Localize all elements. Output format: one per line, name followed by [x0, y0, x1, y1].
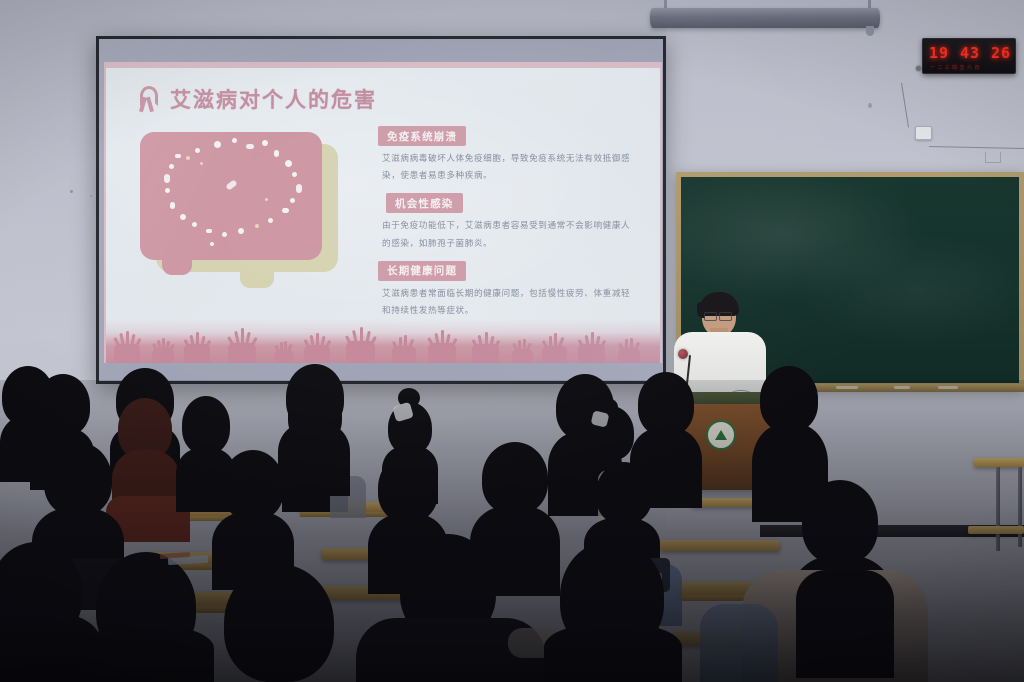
section-text: 艾滋病病毒破坏人体免疫细胞，导致免疫系统无法有效抵御感染，使患者易患多种疾病。: [382, 151, 632, 185]
hand-silhouette: [428, 330, 456, 363]
ceiling-screen-roller: [650, 8, 880, 28]
presenter-glasses-left: [704, 312, 717, 321]
slide-section: 长期健康问题 艾滋病患者常面临长期的健康问题，包括慢性疲劳、体重减轻和持续性发热…: [378, 261, 632, 320]
student-head: [222, 450, 284, 520]
student-head: [378, 454, 438, 522]
student-head: [286, 364, 344, 430]
bubble-front: [140, 132, 322, 260]
empty-desk: [968, 526, 1024, 534]
clock-hours: 19: [929, 44, 949, 62]
slide-section: 免疫系统崩溃 艾滋病病毒破坏人体免疫细胞，导致免疫系统无法有效抵御感染，使患者易…: [378, 126, 632, 185]
classroom-photo-scene: 19 43 26 一 二 三 四 五 六 日 艾滋病对个人的危害: [0, 0, 1024, 682]
student-head: [44, 442, 112, 516]
clock-weekday-strip: 一 二 三 四 五 六 日: [930, 64, 1010, 71]
hand-silhouette: [472, 332, 499, 363]
hand-silhouette: [618, 338, 640, 363]
hand-silhouette: [152, 338, 174, 363]
slide-title: 艾滋病对个人的危害: [170, 84, 377, 114]
hand-silhouette: [578, 332, 605, 363]
clock-digits: 19 43 26: [929, 44, 1011, 62]
student-shoulder: [700, 604, 778, 682]
led-wall-clock: 19 43 26 一 二 三 四 五 六 日: [922, 38, 1016, 74]
section-text: 艾滋病患者常面临长期的健康问题，包括慢性疲劳、体重减轻和持续性发热等症状。: [382, 286, 632, 320]
student-head: [596, 462, 652, 524]
projection-screen: 艾滋病对个人的危害: [96, 36, 666, 384]
student-head: [36, 374, 90, 436]
presenter-glasses-right: [719, 312, 732, 321]
slide-section: 机会性感染 由于免疫功能低下，艾滋病患者容易受到通常不会影响健康人的感染，如肺孢…: [378, 193, 632, 252]
student-head: [482, 442, 548, 514]
wall-power-outlet: [915, 126, 932, 140]
hand-silhouette: [542, 334, 567, 363]
clock-indicator-led: [916, 66, 921, 71]
hand-silhouette: [274, 341, 294, 363]
roller-knob: [866, 26, 874, 36]
presentation-slide: 艾滋病对个人的危害: [104, 62, 662, 363]
clock-seconds: 26: [991, 44, 1011, 62]
wall-mark: [70, 190, 73, 193]
student-desk: [660, 540, 780, 551]
section-tag: 长期健康问题: [378, 261, 466, 281]
slide-text-column: 免疫系统崩溃 艾滋病病毒破坏人体免疫细胞，导致免疫系统无法有效抵御感染，使患者易…: [378, 126, 632, 328]
student-head: [224, 564, 334, 682]
pills-speech-bubble-illustration: [138, 130, 338, 285]
microphone-head: [678, 349, 688, 359]
hand-silhouette: [114, 331, 140, 363]
section-tag: 机会性感染: [386, 193, 463, 213]
hand-silhouette: [392, 335, 416, 363]
hand-silhouette: [184, 332, 210, 363]
wall-mark: [868, 103, 872, 108]
student-hair-front: [796, 570, 894, 678]
student-head: [760, 366, 818, 432]
seated-students: [0, 380, 1024, 682]
section-tag: 免疫系统崩溃: [378, 126, 466, 146]
student-head: [638, 372, 694, 436]
raised-hands-silhouettes: [106, 319, 660, 363]
projection-surface: 艾滋病对个人的危害: [99, 39, 663, 381]
hand-silhouette: [304, 333, 330, 363]
slide-title-row: 艾滋病对个人的危害: [136, 84, 377, 114]
hand-silhouette: [228, 329, 256, 363]
awareness-ribbon-icon: [136, 86, 156, 112]
student-head: [802, 480, 878, 564]
section-text: 由于免疫功能低下，艾滋病患者容易受到通常不会影响健康人的感染，如肺孢子菌肺炎。: [382, 218, 632, 252]
wall-mark: [90, 195, 92, 197]
hand-silhouette: [346, 327, 375, 363]
hand-silhouette: [512, 339, 533, 363]
wall-cable-loop: [985, 152, 1001, 163]
student-head: [182, 396, 230, 454]
clock-minutes: 43: [960, 44, 980, 62]
empty-desk: [974, 458, 1024, 467]
